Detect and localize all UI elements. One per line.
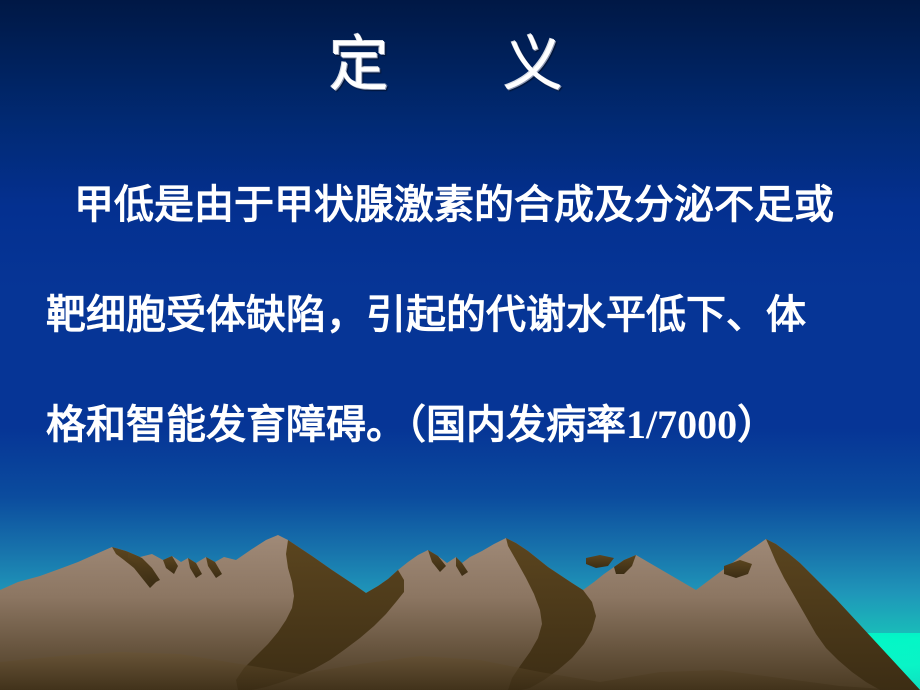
slide-body-text: 甲低是由于甲状腺激素的合成及分泌不足或 靶细胞受体缺陷，引起的代谢水平低下、体 … [36, 150, 884, 480]
presentation-slide: 定 义 甲低是由于甲状腺激素的合成及分泌不足或 靶细胞受体缺陷，引起的代谢水平低… [0, 0, 920, 690]
mountain-range-illustration [0, 530, 920, 690]
body-line-1: 甲低是由于甲状腺激素的合成及分泌不足或 [36, 150, 884, 260]
body-line-3: 格和智能发育障碍。（国内发病率1/7000） [36, 370, 884, 480]
slide-title: 定 义 [0, 34, 920, 97]
body-line-2: 靶细胞受体缺陷，引起的代谢水平低下、体 [36, 260, 884, 370]
